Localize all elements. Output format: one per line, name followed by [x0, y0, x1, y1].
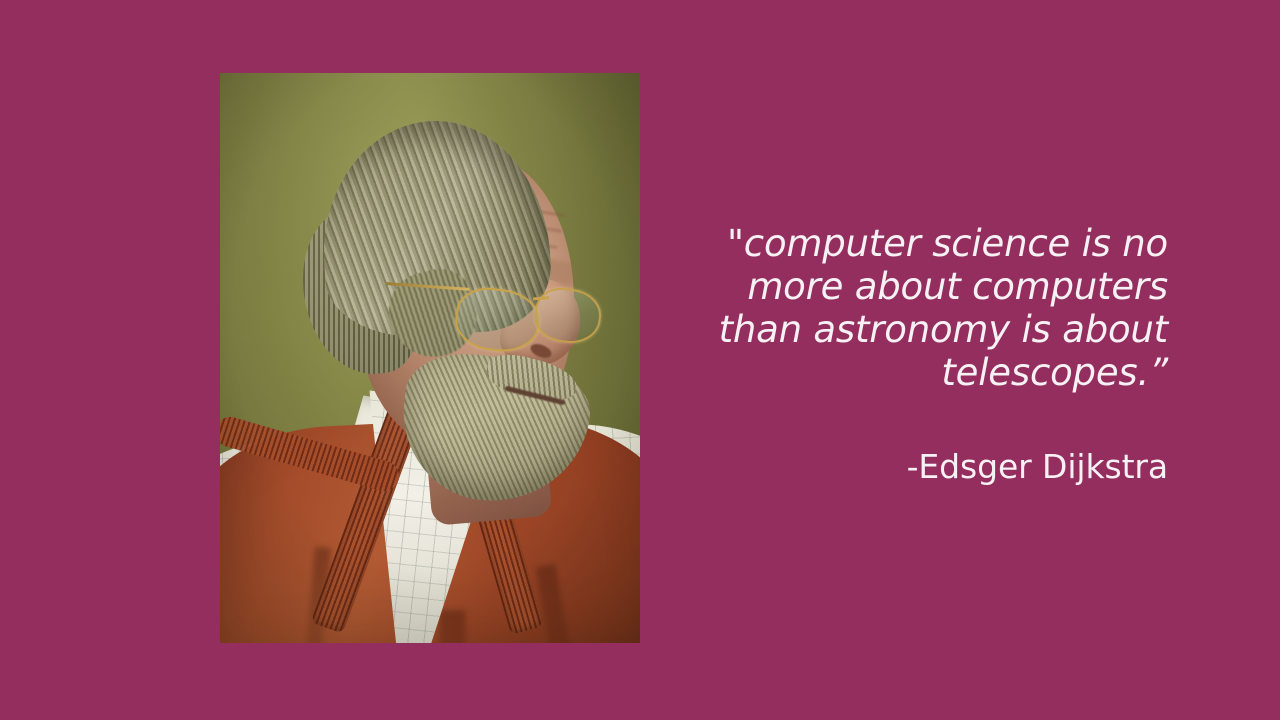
portrait-photo: [220, 73, 640, 643]
quote-attribution: -Edsger Dijkstra: [690, 448, 1168, 486]
quote-slide: "computer science is no more about compu…: [0, 0, 1280, 720]
vest-fold: [535, 564, 581, 643]
eyeglass-lens-near: [452, 283, 544, 356]
eyeglass-lens-far: [531, 284, 604, 347]
quote-text: "computer science is no more about compu…: [690, 222, 1168, 394]
quote-block: "computer science is no more about compu…: [690, 222, 1168, 394]
subject-head: [298, 121, 584, 473]
vest-fold: [439, 610, 465, 643]
eyeglass-temple-arm: [386, 282, 470, 290]
